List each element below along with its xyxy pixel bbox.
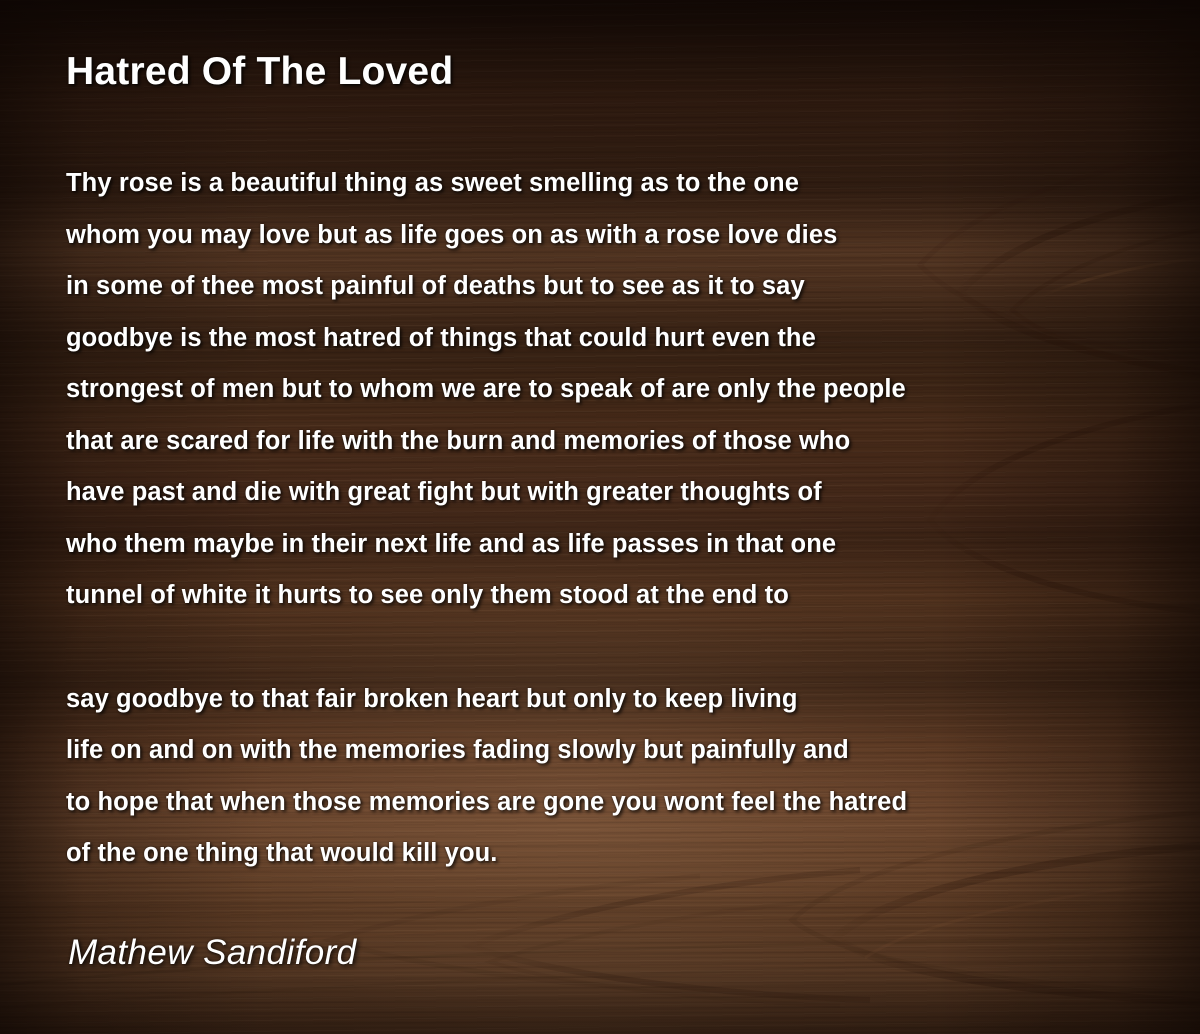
author-signature: Mathew Sandiford [68,933,357,973]
stanza-separator [66,622,1166,674]
poem-body: Thy rose is a beautiful thing as sweet s… [66,158,1166,880]
poem-content: Hatred Of The Loved Thy rose is a beauti… [0,0,1200,1034]
poem-line: life on and on with the memories fading … [66,725,1166,777]
poem-line: to hope that when those memories are gon… [66,777,1166,829]
poem-line: goodbye is the most hatred of things tha… [66,313,1166,365]
poem-line: of the one thing that would kill you. [66,828,1166,880]
poem-line: have past and die with great fight but w… [66,467,1166,519]
poem-line: tunnel of white it hurts to see only the… [66,570,1166,622]
poem-line: in some of thee most painful of deaths b… [66,261,1166,313]
poem-poster: Hatred Of The Loved Thy rose is a beauti… [0,0,1200,1034]
stanza-1: Thy rose is a beautiful thing as sweet s… [66,158,1166,622]
poem-line: whom you may love but as life goes on as… [66,210,1166,262]
stanza-2: say goodbye to that fair broken heart bu… [66,674,1166,880]
poem-line: strongest of men but to whom we are to s… [66,364,1166,416]
poem-line: Thy rose is a beautiful thing as sweet s… [66,158,1166,210]
poem-line: who them maybe in their next life and as… [66,519,1166,571]
poem-line: say goodbye to that fair broken heart bu… [66,674,1166,726]
page-title: Hatred Of The Loved [66,50,453,94]
poem-line: that are scared for life with the burn a… [66,416,1166,468]
